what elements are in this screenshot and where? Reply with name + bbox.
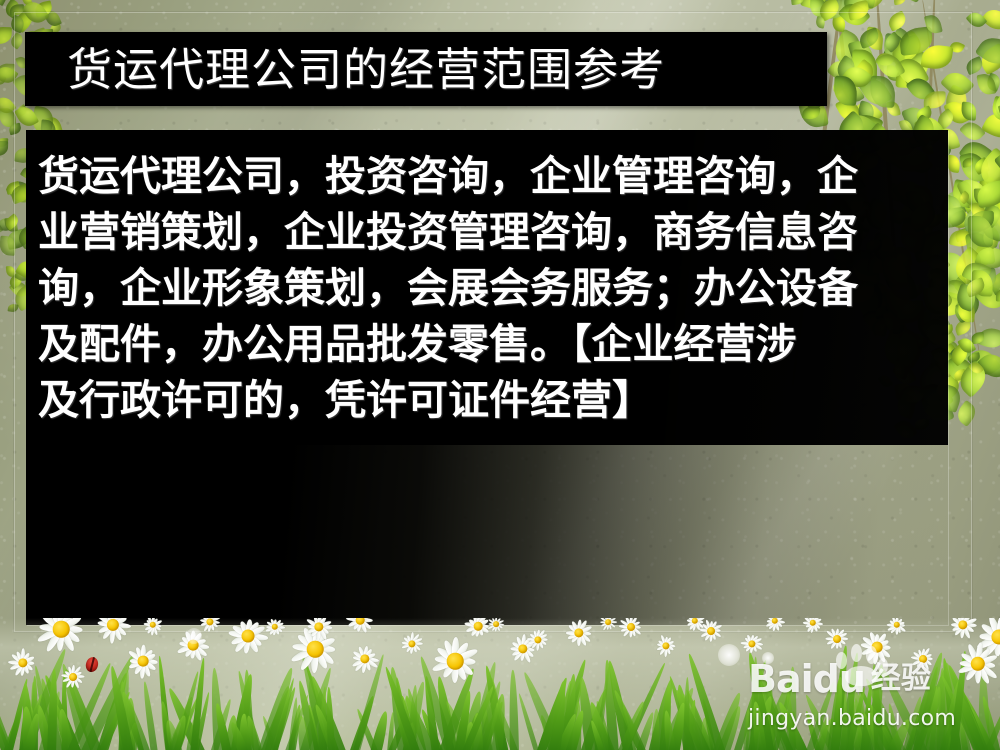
body-line: 货运代理公司，投资咨询，企业管理咨询，企 xyxy=(38,148,938,204)
daisy-flower xyxy=(10,650,36,676)
business-scope-paragraph: 货运代理公司，投资咨询，企业管理咨询，企 业营销策划，企业投资管理咨询，商务信息… xyxy=(38,148,938,428)
bokeh-light xyxy=(718,644,740,666)
daisy-flower xyxy=(888,618,906,634)
body-line: 业营销策划，企业投资管理咨询，商务信息咨 xyxy=(38,204,938,260)
bokeh-light xyxy=(186,628,202,644)
daisy-flower xyxy=(912,648,934,670)
body-line: 询，企业形象策划，会展会务服务；办公设备 xyxy=(38,260,938,316)
daisy-flower xyxy=(528,630,548,650)
daisy-flower xyxy=(128,646,158,676)
daisy-flower xyxy=(656,636,676,656)
slide: 货运代理公司的经营范围参考 货运代理公司，投资咨询，企业管理咨询，企 业营销策划… xyxy=(0,0,1000,750)
daisy-flower xyxy=(742,634,762,654)
daisy-flower xyxy=(200,618,220,632)
daisy-flower xyxy=(38,618,84,652)
daisy-flower xyxy=(488,618,504,632)
content-panel: 货运代理公司，投资咨询，企业管理咨询，企 业营销策划，企业投资管理咨询，商务信息… xyxy=(26,130,948,625)
daisy-flower xyxy=(352,646,378,672)
daisy-flower xyxy=(950,618,976,638)
bokeh-light xyxy=(762,652,774,664)
daisy-flower xyxy=(266,618,284,636)
title-bar: 货运代理公司的经营范围参考 xyxy=(25,32,827,106)
daisy-flower xyxy=(566,620,592,646)
daisy-flower xyxy=(432,638,478,684)
daisy-flower xyxy=(96,618,130,642)
daisy-flower xyxy=(766,618,784,630)
daisy-flower xyxy=(804,618,822,632)
daisy-flower xyxy=(466,618,490,638)
daisy-flower xyxy=(144,618,162,634)
daisy-flower xyxy=(600,618,616,630)
daisy-flower xyxy=(862,632,892,662)
daisy-flower xyxy=(686,618,704,630)
daisy-flower xyxy=(306,618,332,640)
body-line: 及配件，办公用品批发零售。【企业经营涉 xyxy=(38,316,938,372)
daisy-flower xyxy=(958,644,998,684)
daisy-flower xyxy=(402,634,422,654)
body-line: 及行政许可的，凭许可证件经营】 xyxy=(38,372,938,428)
daisy-flower xyxy=(348,618,372,632)
daisy-flower xyxy=(620,618,642,638)
meadow-footer-decoration xyxy=(0,618,1000,750)
page-title: 货运代理公司的经营范围参考 xyxy=(25,47,665,92)
daisy-flower xyxy=(62,666,84,688)
daisy-flower xyxy=(826,628,848,650)
daisy-flower xyxy=(230,618,266,654)
